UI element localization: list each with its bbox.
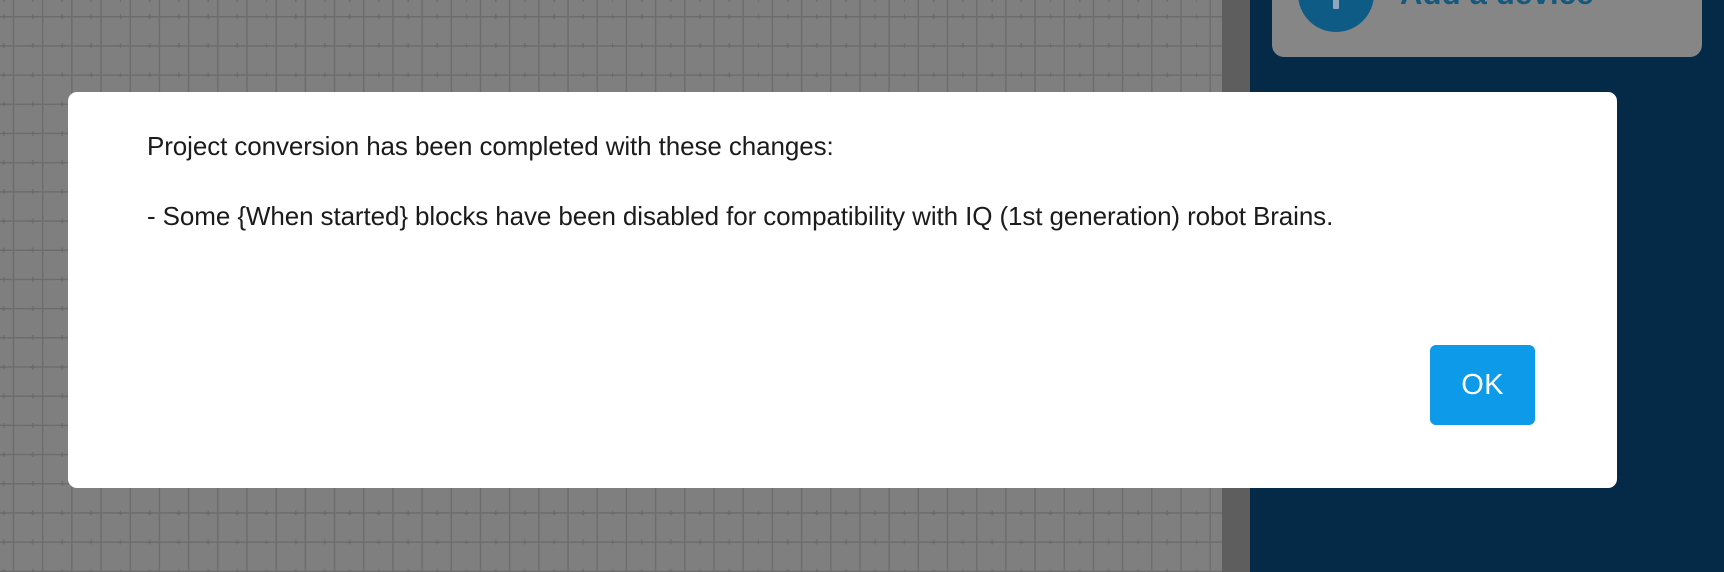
ok-button[interactable]: OK xyxy=(1430,345,1535,425)
dialog-message-body: Project conversion has been completed wi… xyxy=(147,128,1457,235)
add-device-plus-icon[interactable] xyxy=(1298,0,1374,32)
add-device-card[interactable]: Add a device xyxy=(1272,0,1702,57)
dialog-action-row: OK xyxy=(68,345,1617,445)
dialog-message-line-2: - Some {When started} blocks have been d… xyxy=(147,198,1457,235)
app-screen: Add a device Project conversion has been… xyxy=(0,0,1724,572)
project-conversion-dialog: Project conversion has been completed wi… xyxy=(68,92,1617,488)
add-device-label: Add a device xyxy=(1400,0,1594,12)
dialog-message-line-1: Project conversion has been completed wi… xyxy=(147,128,1457,165)
